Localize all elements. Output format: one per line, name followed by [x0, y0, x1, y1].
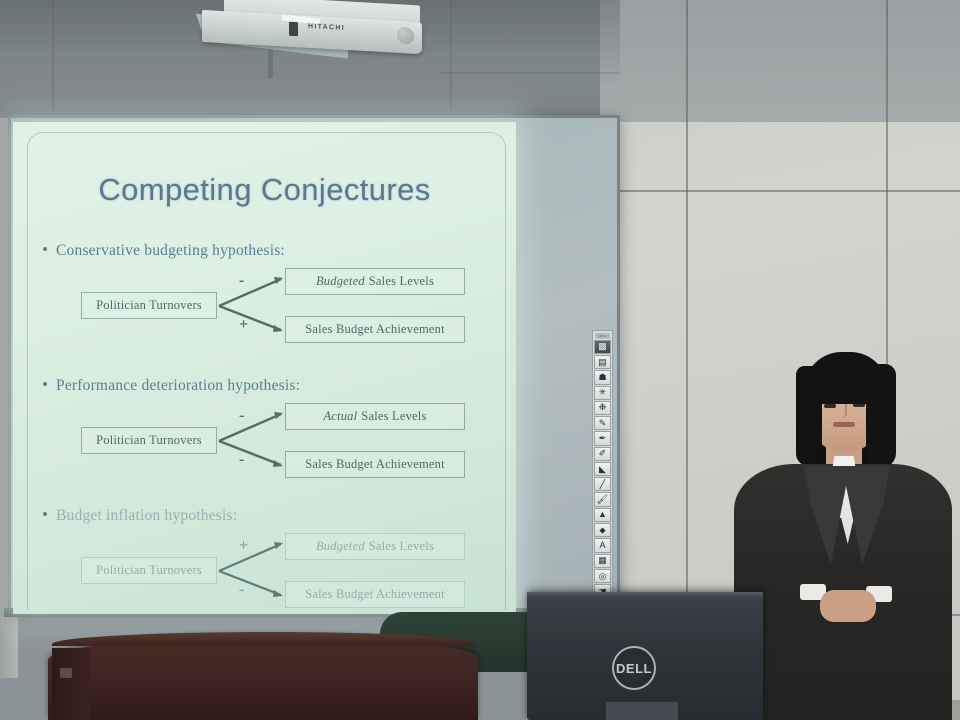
edge-sign-2b: - — [239, 451, 244, 469]
node-target-1a-italic: Budgeted — [316, 274, 365, 289]
hair-left-side — [796, 366, 822, 466]
hypothesis-label-3: Budget inflation hypothesis: — [56, 507, 237, 525]
upper-wall-seam-2 — [450, 0, 452, 110]
highlighter-icon[interactable]: ✐ — [594, 447, 611, 461]
wall-seam-horizontal-1 — [617, 190, 960, 192]
node-source-2: Politician Turnovers — [81, 427, 217, 454]
mouth — [833, 422, 855, 427]
bullet-dot-icon — [43, 247, 47, 251]
edge-sign-1a: - — [239, 272, 244, 290]
screen-capture-icon[interactable]: ▩ — [594, 340, 611, 354]
node-target-2a: ActualSales Levels — [285, 403, 465, 430]
lectern-badge — [60, 668, 72, 678]
bullet-row-1: Conservative budgeting hypothesis: — [43, 242, 493, 260]
settings-icon[interactable]: ◎ — [594, 569, 611, 583]
nose — [839, 404, 847, 418]
node-target-2b-rest: Sales Budget Achievement — [305, 457, 445, 472]
node-target-2b: Sales Budget Achievement — [285, 451, 465, 478]
node-target-3b: Sales Budget Achievement — [285, 581, 465, 608]
bullet-dot-icon — [43, 512, 47, 516]
keyboard-icon[interactable]: ▦ — [594, 554, 611, 568]
edge-sign-3a: + — [239, 537, 248, 555]
line-icon[interactable]: ╱ — [594, 477, 611, 491]
node-target-2a-italic: Actual — [323, 409, 357, 424]
shape-icon[interactable]: ▲ — [594, 508, 611, 522]
hypothesis-block-2: Performance deterioration hypothesis: Po… — [43, 377, 493, 481]
lectern-side-panel — [52, 648, 90, 720]
upper-wall-right — [600, 0, 960, 122]
node-target-1b: Sales Budget Achievement — [285, 316, 465, 343]
projector-switch[interactable] — [289, 22, 298, 36]
node-target-3a-italic: Budgeted — [316, 539, 365, 554]
node-target-3a: BudgetedSales Levels — [285, 533, 465, 560]
node-target-1a-rest: Sales Levels — [369, 274, 434, 289]
node-source-1: Politician Turnovers — [81, 292, 217, 319]
hypothesis-label-2: Performance deterioration hypothesis: — [56, 377, 300, 395]
slide-title: Competing Conjectures — [13, 172, 516, 208]
bullet-row-3: Budget inflation hypothesis: — [43, 507, 493, 525]
pen-thin-icon[interactable]: ✎ — [594, 416, 611, 430]
toolbar-header-label: MENU — [595, 333, 610, 339]
lectern-top-surface — [52, 632, 474, 646]
edge-sign-1b: + — [239, 316, 248, 334]
whiteboard-toolbar[interactable]: MENU ▩ ▤ ☗ ✳ ❉ ✎ ✒ ✐ ◣ ╱ 🖌 ▲ ⬥ A ▦ ◎ ☚ E… — [592, 330, 613, 606]
bullet-dot-icon — [43, 382, 47, 386]
node-target-3a-rest: Sales Levels — [369, 539, 434, 554]
presentation-photo-scene: HITACHI Competing Conjectures Conservati… — [0, 0, 960, 720]
eye-left — [824, 404, 836, 408]
diagram-2: Politician Turnovers - - ActualSales Lev… — [43, 403, 493, 481]
monitor-stand — [606, 702, 678, 720]
upper-wall-seam-3 — [440, 72, 620, 74]
node-target-2a-rest: Sales Levels — [361, 409, 426, 424]
hair-right-side — [866, 364, 896, 468]
pointer-icon[interactable]: ⬥ — [594, 523, 611, 537]
hypothesis-block-3: Budget inflation hypothesis: Politician … — [43, 507, 493, 611]
node-target-1b-rest: Sales Budget Achievement — [305, 322, 445, 337]
brush-icon[interactable]: 🖌 — [594, 492, 611, 506]
person-icon[interactable]: ☗ — [594, 370, 611, 384]
bullet-row-2: Performance deterioration hypothesis: — [43, 377, 493, 395]
hands-clasped — [820, 590, 876, 622]
edge-sign-3b: - — [239, 581, 244, 599]
dell-logo: DELL — [612, 646, 656, 690]
projector-lens-dial — [397, 26, 414, 45]
hypothesis-block-1: Conservative budgeting hypothesis: Polit… — [43, 242, 493, 346]
ceiling-projector: HITACHI — [196, 0, 428, 52]
projected-slide: Competing Conjectures Conservative budge… — [13, 122, 516, 614]
diagram-3: Politician Turnovers + - BudgetedSales L… — [43, 533, 493, 611]
spray-icon[interactable]: ❉ — [594, 401, 611, 415]
node-target-3b-rest: Sales Budget Achievement — [305, 587, 445, 602]
star-icon[interactable]: ✳ — [594, 386, 611, 400]
new-page-icon[interactable]: ▤ — [594, 355, 611, 369]
lectern — [48, 636, 478, 720]
upper-wall-seam-1 — [52, 0, 54, 110]
node-source-3: Politician Turnovers — [81, 557, 217, 584]
text-icon[interactable]: A — [594, 538, 611, 552]
node-target-1a: BudgetedSales Levels — [285, 268, 465, 295]
eraser-icon[interactable]: ◣ — [594, 462, 611, 476]
monitor-top-bezel — [527, 592, 763, 598]
hypothesis-label-1: Conservative budgeting hypothesis: — [56, 242, 285, 260]
edge-sign-2a: - — [239, 407, 244, 425]
diagram-1: Politician Turnovers - + BudgetedSales L… — [43, 268, 493, 346]
pen-thick-icon[interactable]: ✒ — [594, 431, 611, 445]
